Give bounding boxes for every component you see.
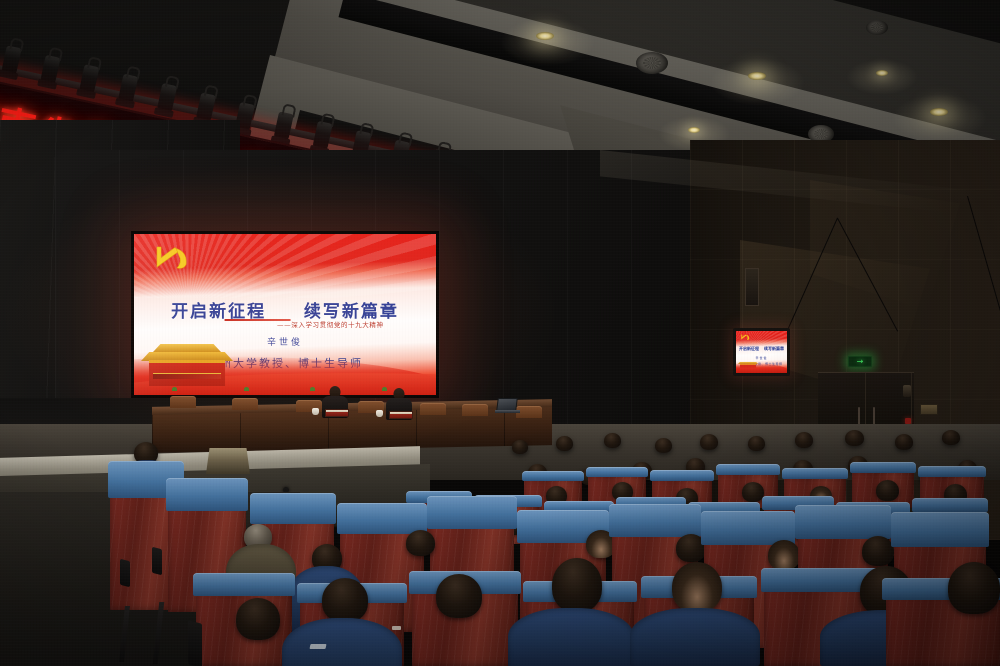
stage-chair[interactable] <box>232 398 258 410</box>
downlight-icon <box>930 108 948 116</box>
downlight-icon <box>748 72 766 80</box>
reflective-strip <box>309 644 326 649</box>
teacup <box>312 408 319 415</box>
audience-head <box>236 598 280 640</box>
audience-head <box>795 432 813 448</box>
audience-head <box>768 540 800 570</box>
audience-head <box>556 436 573 451</box>
stage-chair[interactable] <box>420 403 446 415</box>
seat-leg <box>119 606 130 662</box>
seat-number-tag <box>392 626 401 630</box>
audience-head <box>604 433 621 448</box>
audience-head <box>552 558 602 612</box>
audience-head <box>322 578 368 622</box>
audience-head <box>862 536 894 566</box>
wall-speaker-icon <box>903 385 911 397</box>
stage-spotlight-icon <box>312 121 333 152</box>
air-diffuser-icon <box>636 52 668 74</box>
downlight-icon <box>536 32 554 40</box>
stage-chair[interactable] <box>462 404 488 416</box>
air-diffuser-icon <box>866 20 888 35</box>
projection-screen: 开启新征程 续写新篇章 ——深入学习贯彻党的十九大精神 辛世俊 郑州大学教授、博… <box>131 231 439 398</box>
gate-upper-roof <box>153 344 221 352</box>
seat-armrest <box>188 620 202 666</box>
seat-armrest <box>152 547 162 575</box>
audience-head <box>742 482 764 502</box>
wall-monitor-slide: 开启新征程续写新篇章 辛世俊 郑州大学教授、博士生导师 <box>736 331 787 373</box>
audience-head <box>672 562 722 612</box>
audience-head <box>406 530 435 556</box>
conference-hall-photo: 河南省非公企业和社会组织党的十九大精神宣讲报告会 开启新征程续写新篇章 辛世俊 … <box>0 0 1000 666</box>
wall-mounted-display: 开启新征程续写新篇章 辛世俊 郑州大学教授、博士生导师 <box>733 328 790 376</box>
audience-head <box>655 438 672 453</box>
seat-armrest <box>120 559 130 587</box>
audience-head <box>876 480 899 501</box>
stage-chair[interactable] <box>170 396 196 408</box>
nameplate <box>325 409 349 417</box>
audience-head <box>895 434 913 450</box>
audience-shoulders <box>630 608 760 666</box>
exit-arrow-icon: → <box>857 358 864 366</box>
audience-head <box>845 430 864 446</box>
audience-head <box>512 440 528 454</box>
party-emblem-icon <box>150 243 192 273</box>
laptop-keyboard <box>495 410 520 413</box>
seat-leg <box>153 602 165 664</box>
slide-decor-dot <box>244 387 249 391</box>
audience-head <box>748 436 765 451</box>
audience-shoulders <box>508 608 634 666</box>
wall-slide-title: 开启新征程续写新篇章 <box>736 346 787 352</box>
audience-head <box>700 434 718 450</box>
downlight-icon <box>876 70 888 76</box>
nameplate <box>389 411 413 419</box>
slide-decor-dot <box>172 387 177 391</box>
gate-banner-band <box>153 373 221 379</box>
stage-spotlight-icon <box>273 111 294 142</box>
presentation-slide: 开启新征程 续写新篇章 ——深入学习贯彻党的十九大精神 辛世俊 郑州大学教授、博… <box>134 234 436 395</box>
audience-head <box>948 562 1000 614</box>
emergency-exit-sign: → <box>848 356 872 367</box>
slide-decor-dot <box>310 387 315 391</box>
audience-seating <box>0 430 1000 666</box>
slide-subtitle: ——深入学习贯彻党的十九大精神 <box>134 319 436 329</box>
wall-notice-panel <box>745 268 759 306</box>
party-emblem-icon <box>739 333 752 342</box>
teacup <box>376 410 383 417</box>
downlight-icon <box>688 127 700 133</box>
tiananmen-illustration <box>135 338 243 394</box>
wall-signage-plate <box>920 404 938 415</box>
audience-head <box>942 430 960 445</box>
audience-head <box>436 574 482 618</box>
